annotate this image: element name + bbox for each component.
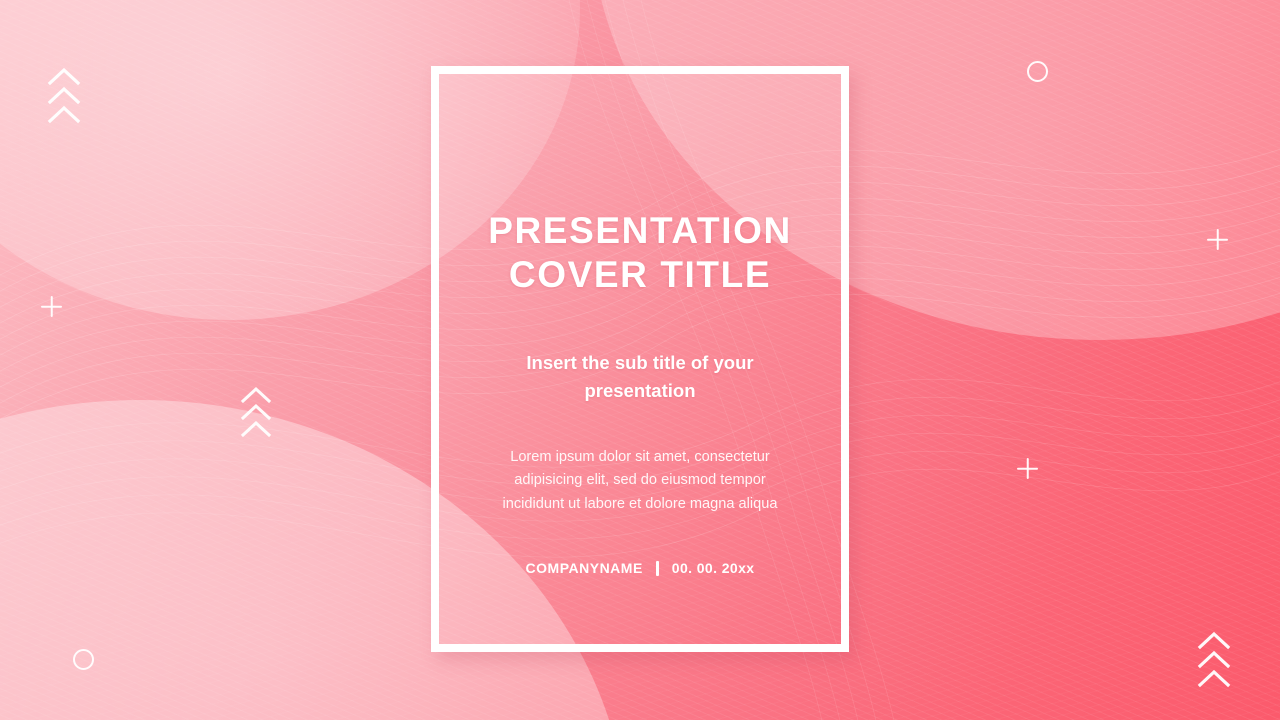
cover-content: PRESENTATION COVER TITLE Insert the sub …	[439, 74, 841, 576]
title-line-2: COVER TITLE	[509, 254, 771, 295]
company-name: COMPANYNAME	[526, 560, 643, 576]
body-line-2: adipisicing elit, sed do eiusmod tempor	[514, 472, 765, 488]
title-line-1: PRESENTATION	[488, 210, 792, 251]
page-subtitle: Insert the sub title of your presentatio…	[490, 349, 790, 405]
triple-chevron-up-icon	[45, 66, 83, 124]
presentation-cover-slide: PRESENTATION COVER TITLE Insert the sub …	[0, 0, 1280, 720]
cover-frame-inner: PRESENTATION COVER TITLE Insert the sub …	[439, 74, 841, 644]
body-paragraph: Lorem ipsum dolor sit amet, consectetur …	[502, 446, 777, 517]
plus-icon	[41, 296, 62, 317]
presentation-date: 00. 00. 20xx	[672, 560, 755, 576]
footer-separator	[656, 561, 659, 576]
circle-outline-icon	[73, 649, 94, 670]
triple-chevron-up-icon	[239, 386, 273, 438]
plus-icon	[1017, 458, 1038, 479]
body-line-3: incididunt ut labore et dolore magna ali…	[502, 496, 777, 512]
plus-icon	[1207, 229, 1228, 250]
cover-frame: PRESENTATION COVER TITLE Insert the sub …	[431, 66, 849, 652]
body-line-1: Lorem ipsum dolor sit amet, consectetur	[510, 449, 770, 465]
page-title: PRESENTATION COVER TITLE	[488, 209, 792, 296]
circle-outline-icon	[1027, 61, 1048, 82]
triple-chevron-up-icon	[1195, 630, 1233, 688]
footer-meta: COMPANYNAME 00. 00. 20xx	[526, 560, 755, 576]
